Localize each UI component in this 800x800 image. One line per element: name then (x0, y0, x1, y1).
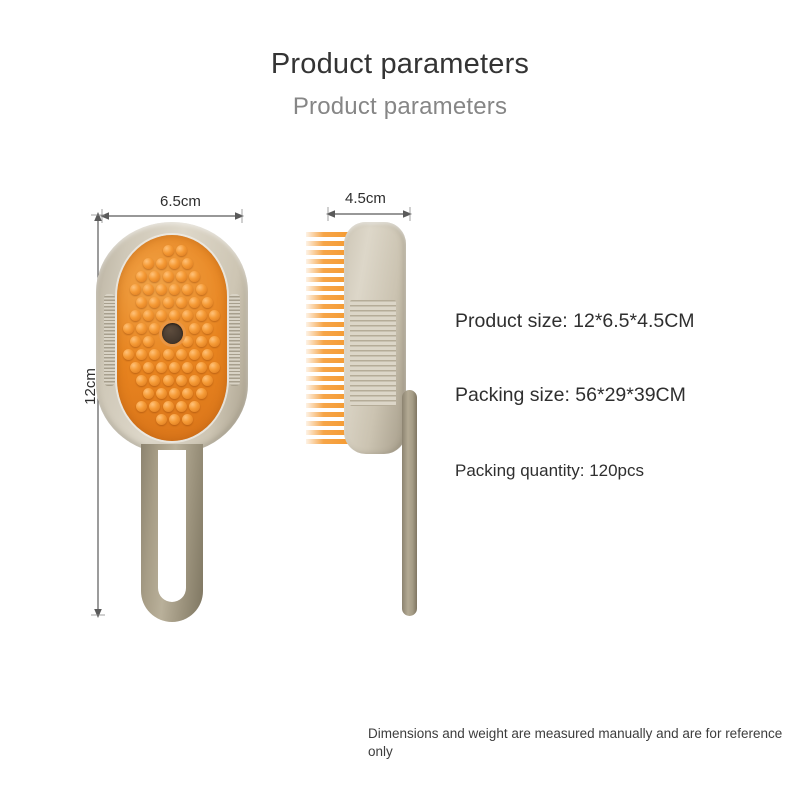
side-grip-left-icon (104, 294, 115, 386)
page-title: Product parameters (0, 48, 800, 81)
page-subtitle: Product parameters (0, 93, 800, 121)
side-grip-right-icon (229, 294, 240, 386)
brush-head-front (96, 222, 248, 454)
silicone-bristle-pad (117, 235, 227, 441)
spec-packing-size: Packing size: 56*29*39CM (455, 384, 686, 407)
handle-loop-opening (158, 450, 186, 602)
loop-handle-side (402, 390, 417, 616)
grip-ridges-side (350, 300, 396, 406)
dimension-arrow-depth (326, 204, 418, 224)
product-front-view (96, 222, 248, 622)
spec-packing-quantity: Packing quantity: 120pcs (455, 461, 644, 481)
disclaimer-footnote: Dimensions and weight are measured manua… (368, 725, 788, 761)
spec-product-size: Product size: 12*6.5*4.5CM (455, 310, 695, 333)
product-side-view (306, 222, 434, 622)
steam-outlet-hole (162, 323, 183, 344)
bristles-side-profile (306, 232, 348, 444)
